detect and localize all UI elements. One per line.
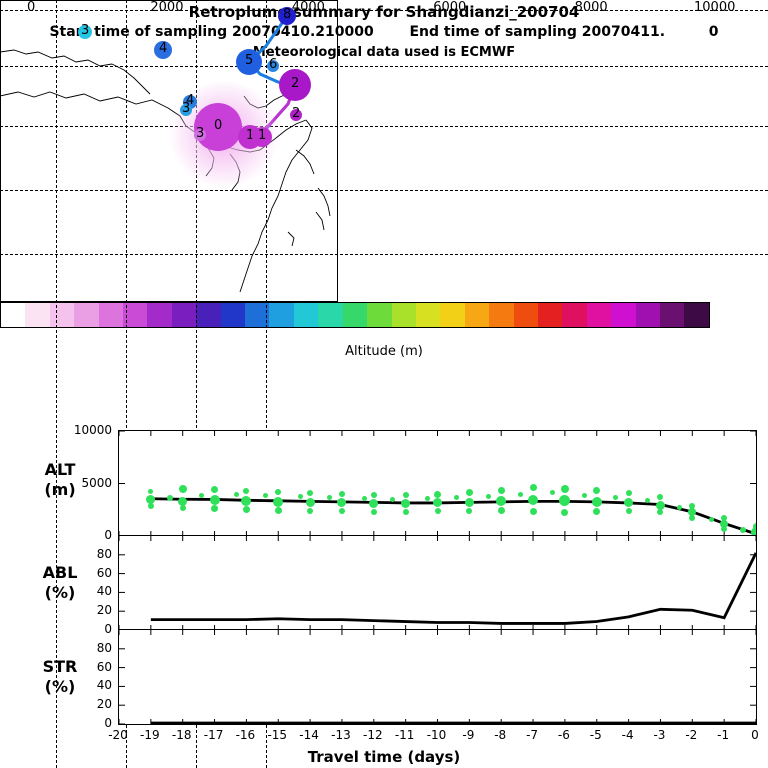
y-tick-label: 60 (54, 660, 112, 674)
colorbar-tick-label: 0 (27, 0, 35, 15)
alt-data-point (306, 498, 315, 507)
colorbar-swatch (562, 303, 586, 327)
alt-data-point (486, 494, 491, 499)
alt-data-point (199, 493, 204, 498)
marker-4-label: 4 (159, 41, 167, 56)
colorbar-tick-label: 8000 (575, 0, 608, 15)
y-tick-label: 0 (54, 622, 112, 636)
marker-3-low-label: 3 (196, 126, 204, 141)
x-tick-label: -10 (421, 728, 453, 742)
x-axis-title: Travel time (days) (0, 748, 768, 766)
colorbar-swatch (367, 303, 391, 327)
alt-data-point (709, 517, 714, 522)
alt-data-point (403, 492, 409, 498)
x-tick-label: -3 (643, 728, 675, 742)
y-tick-label: 10000 (54, 423, 112, 437)
alt-data-point (498, 507, 505, 514)
y-tick-label: 40 (54, 678, 112, 692)
alt-data-point (454, 495, 459, 500)
x-tick-label: -17 (198, 728, 230, 742)
colorbar-swatch (25, 303, 49, 327)
colorbar-swatch (1, 303, 25, 327)
alt-data-point (530, 484, 537, 491)
colorbar-ticks: 0200040006000800010000 (0, 328, 768, 344)
x-tick-label: -12 (357, 728, 389, 742)
colorbar-swatch (74, 303, 98, 327)
colorbar-swatch (172, 303, 196, 327)
colorbar-swatch (269, 303, 293, 327)
x-tick-label: -18 (166, 728, 198, 742)
alt-data-point (592, 497, 602, 507)
alt-data-point (626, 490, 632, 496)
alt-data-point (403, 509, 409, 515)
y-tick-label: 60 (54, 566, 112, 580)
alt-data-point (298, 494, 303, 499)
colorbar-swatch (587, 303, 611, 327)
marker-2-right-label: 2 (291, 76, 299, 91)
x-tick-label: -16 (229, 728, 261, 742)
colorbar-swatch (99, 303, 123, 327)
x-tick-label: -19 (134, 728, 166, 742)
x-tick-label: -6 (548, 728, 580, 742)
y-tick-label: 20 (54, 697, 112, 711)
x-tick-label: -8 (484, 728, 516, 742)
altitude-colorbar (0, 302, 710, 328)
alt-data-point (740, 527, 746, 533)
colorbar-swatch (392, 303, 416, 327)
colorbar-swatch (50, 303, 74, 327)
alt-data-point (518, 492, 523, 497)
colorbar-swatch (440, 303, 464, 327)
x-tick-label: -14 (293, 728, 325, 742)
x-tick-label: -13 (325, 728, 357, 742)
colorbar-swatch (147, 303, 171, 327)
y-tick-label: 20 (54, 603, 112, 617)
alt-data-point (179, 485, 187, 493)
colorbar-swatch (343, 303, 367, 327)
y-tick-label: 0 (54, 528, 112, 542)
colorbar-swatch (318, 303, 342, 327)
series-line (151, 553, 756, 624)
colorbar-swatch (196, 303, 220, 327)
alt-data-point (339, 491, 345, 497)
alt-data-point (234, 492, 239, 497)
alt-data-point (339, 508, 345, 514)
alt-panel (118, 430, 757, 537)
marker-8-label: 8 (283, 7, 291, 22)
alt-data-point (307, 508, 313, 514)
colorbar-swatch (538, 303, 562, 327)
abl-panel (118, 535, 757, 631)
alt-data-point (362, 496, 367, 501)
alt-data-point (371, 509, 377, 515)
x-tick-label: -5 (580, 728, 612, 742)
retroplume-map: 3485622430113 (0, 0, 338, 302)
str-panel (118, 629, 757, 725)
alt-data-point (263, 493, 268, 498)
colorbar-swatch (294, 303, 318, 327)
colorbar-tick-label: 2000 (150, 0, 183, 15)
marker-0-label: 0 (214, 118, 222, 133)
colorbar-tick-label: 6000 (433, 0, 466, 15)
x-tick-label: -4 (612, 728, 644, 742)
end-time-label: End time of sampling 20070411. (409, 24, 665, 40)
y-tick-label: 80 (54, 547, 112, 561)
x-tick-label: -11 (389, 728, 421, 742)
alt-data-point (582, 493, 587, 498)
x-tick-label: -20 (102, 728, 134, 742)
alt-data-point (465, 498, 474, 507)
end-time-value: 0 (709, 24, 719, 40)
y-tick-label: 80 (54, 641, 112, 655)
colorbar-swatch (660, 303, 684, 327)
x-tick-label: -2 (675, 728, 707, 742)
marker-6-label: 6 (269, 57, 277, 72)
alt-data-point (721, 526, 727, 532)
colorbar-swatch (636, 303, 660, 327)
alt-data-point (307, 490, 313, 496)
x-tick-label: -9 (452, 728, 484, 742)
alt-data-point (434, 491, 441, 498)
alt-data-point (371, 492, 377, 498)
colorbar-swatch (489, 303, 513, 327)
x-tick-label: -1 (707, 728, 739, 742)
marker-1b-label: 1 (258, 128, 266, 143)
alt-data-point (180, 505, 186, 511)
alt-data-point (435, 508, 441, 514)
marker-5-label: 5 (245, 53, 253, 68)
colorbar-tick-label: 4000 (292, 0, 325, 15)
marker-3-nw-label: 3 (81, 23, 89, 38)
colorbar-tick-label: 10000 (694, 0, 735, 15)
colorbar-swatch (221, 303, 245, 327)
y-tick-label: 5000 (54, 476, 112, 490)
alt-data-point (530, 508, 537, 515)
colorbar-swatch (684, 303, 708, 327)
x-tick-label: -15 (261, 728, 293, 742)
colorbar-swatch (465, 303, 489, 327)
colorbar-swatch (416, 303, 440, 327)
marker-3-left-label: 3 (182, 101, 190, 116)
alt-data-point (327, 495, 332, 500)
alt-data-point (561, 485, 569, 493)
colorbar-label: Altitude (m) (0, 344, 768, 359)
alt-data-point (626, 508, 632, 514)
alt-data-point (401, 499, 410, 508)
alt-data-point (148, 503, 154, 509)
colorbar-swatch (611, 303, 635, 327)
alt-data-point (210, 495, 220, 505)
y-tick-label: 40 (54, 584, 112, 598)
alt-data-point (645, 498, 650, 503)
x-tick-label: 0 (739, 728, 768, 742)
colorbar-swatch (514, 303, 538, 327)
marker-2-small-label: 2 (292, 106, 300, 121)
x-tick-label: -7 (516, 728, 548, 742)
